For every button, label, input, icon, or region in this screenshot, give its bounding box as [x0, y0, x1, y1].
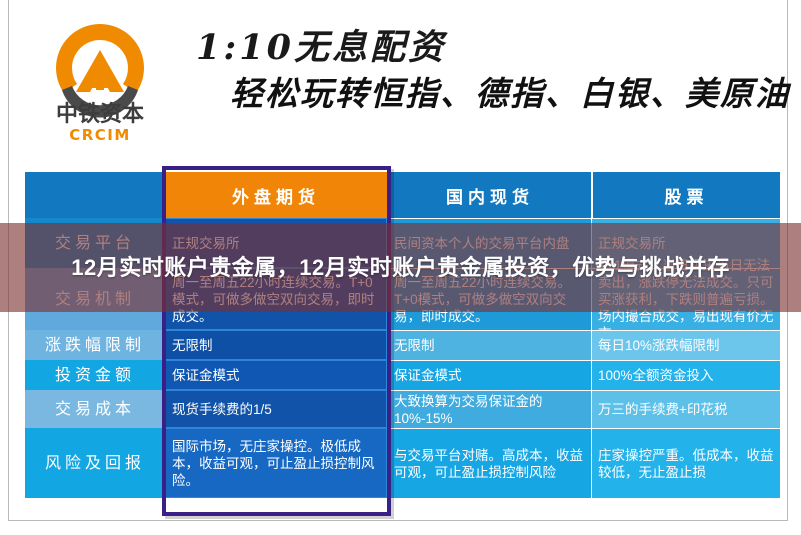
header-cell-stocks[interactable]: 股票 [591, 172, 780, 218]
header-cell-overseas-futures[interactable]: 外盘期货 [165, 172, 387, 218]
svg-text:CRCIM: CRCIM [69, 126, 131, 144]
row-label-transaction-cost: 交易成本 [25, 390, 165, 428]
cell-stocks: 万三的手续费+印花税 [591, 390, 780, 428]
table-row: 风险及回报 国际市场，无庄家操控。极低成本，收益可观，可止盈止损控制风险。 与交… [25, 428, 780, 498]
headline-line-2: 轻松玩转恒指、德指、白银、美原油 [230, 72, 796, 116]
overlay-title: 12月实时账户贵金属，12月实时账户贵金属投资，优势与挑战并存 [71, 253, 729, 283]
cell-overseas-futures: 现货手续费的1/5 [165, 390, 387, 428]
header-cell-blank [25, 172, 165, 218]
masthead: 中铁资本 CRCIM 1:10无息配资 轻松玩转恒指、德指、白银、美原油 [0, 0, 801, 163]
cell-domestic-spot: 无限制 [387, 330, 591, 360]
cell-stocks: 100%全额资金投入 [591, 360, 780, 390]
cell-domestic-spot: 与交易平台对赌。高成本，收益可观，可止盈止损控制风险 [387, 428, 591, 498]
header-cell-domestic-spot[interactable]: 国内现货 [387, 172, 591, 218]
cell-domestic-spot: 大致换算为交易保证金的10%-15% [387, 390, 591, 428]
table-header-row: 外盘期货 国内现货 股票 [25, 172, 780, 218]
table-row: 涨跌幅限制 无限制 无限制 每日10%涨跌幅限制 [25, 330, 780, 360]
crcim-logo: 中铁资本 CRCIM [44, 16, 156, 151]
headline: 1:10无息配资 轻松玩转恒指、德指、白银、美原油 [196, 26, 796, 116]
cell-overseas-futures: 保证金模式 [165, 360, 387, 390]
table-row: 投资金额 保证金模式 保证金模式 100%全额资金投入 [25, 360, 780, 390]
cell-overseas-futures: 无限制 [165, 330, 387, 360]
headline-line-1: 1:10无息配资 [196, 26, 796, 70]
row-label-investment-amount: 投资金额 [25, 360, 165, 390]
overlay-banner: 12月实时账户贵金属，12月实时账户贵金属投资，优势与挑战并存 [0, 223, 801, 312]
cell-domestic-spot: 保证金模式 [387, 360, 591, 390]
cell-stocks: 每日10%涨跌幅限制 [591, 330, 780, 360]
table-row: 交易成本 现货手续费的1/5 大致换算为交易保证金的10%-15% 万三的手续费… [25, 390, 780, 428]
svg-text:中铁资本: 中铁资本 [56, 101, 144, 127]
cell-stocks: 庄家操控严重。低成本，收益较低，无止盈止损 [591, 428, 780, 498]
cell-overseas-futures: 国际市场，无庄家操控。极低成本，收益可观，可止盈止损控制风险。 [165, 428, 387, 498]
row-label-price-limit: 涨跌幅限制 [25, 330, 165, 360]
row-label-risk-and-return: 风险及回报 [25, 428, 165, 498]
